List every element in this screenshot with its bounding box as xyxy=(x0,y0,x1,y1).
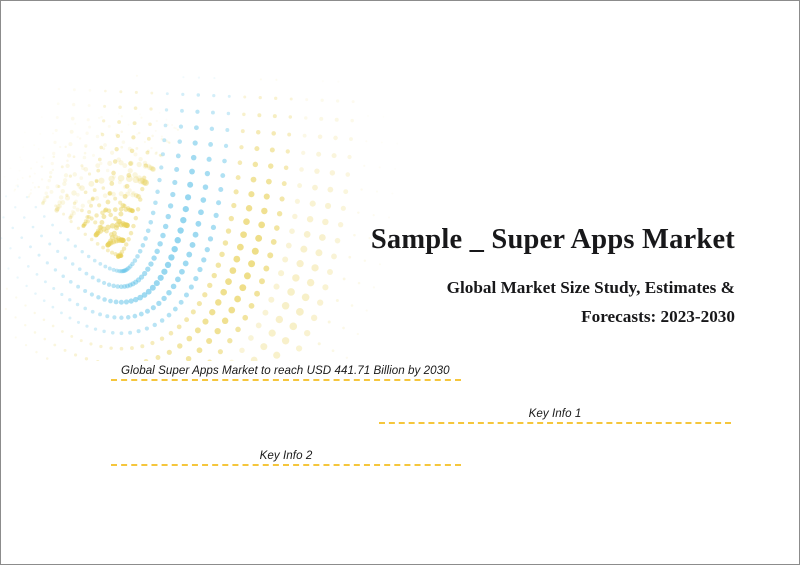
key-info-text-1: Global Super Apps Market to reach USD 44… xyxy=(111,364,461,379)
report-cover-page: Sample _ Super Apps Market Global Market… xyxy=(0,0,800,565)
subtitle-line-2: Forecasts: 2023-2030 xyxy=(301,303,735,332)
title-block: Sample _ Super Apps Market Global Market… xyxy=(301,223,735,332)
key-info-row-3: Key Info 2 xyxy=(111,449,461,466)
key-info-row-1: Global Super Apps Market to reach USD 44… xyxy=(111,364,461,381)
key-info-text-2: Key Info 1 xyxy=(379,407,731,422)
subtitle-line-1: Global Market Size Study, Estimates & xyxy=(301,274,735,303)
page-subtitle: Global Market Size Study, Estimates & Fo… xyxy=(301,274,735,332)
key-info-text-3: Key Info 2 xyxy=(111,449,461,464)
page-title: Sample _ Super Apps Market xyxy=(301,223,735,257)
key-info-row-2: Key Info 1 xyxy=(379,407,731,424)
